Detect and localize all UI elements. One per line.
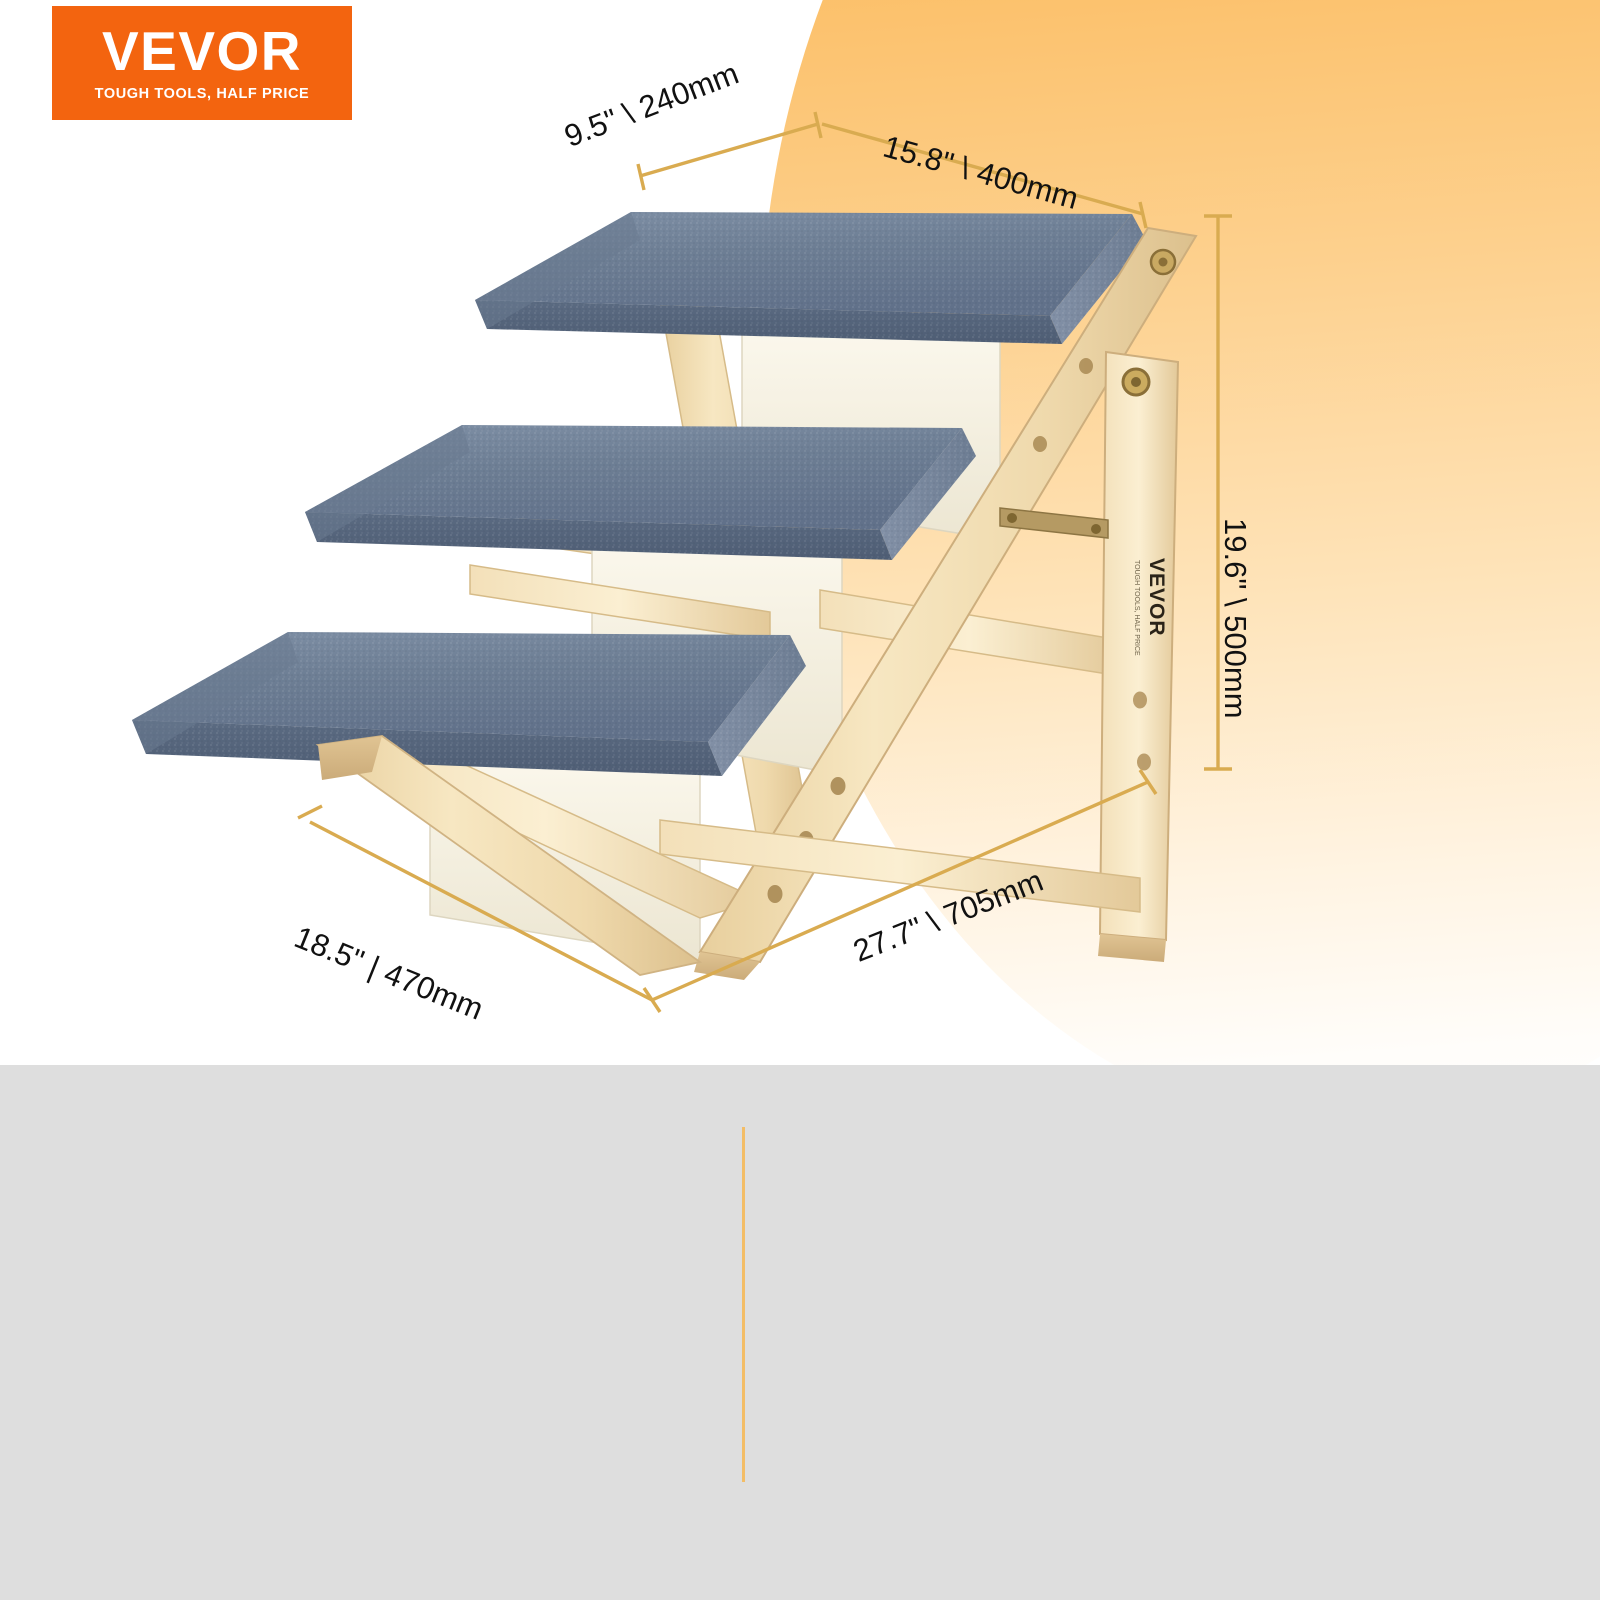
rear-leg: VEVOR TOUGH TOOLS, HALF PRICE — [1098, 352, 1178, 962]
spec-column-divider — [742, 1127, 745, 1482]
logo-wordmark: VEVOR — [102, 24, 302, 79]
svg-text:VEVOR: VEVOR — [1145, 558, 1168, 637]
product-image-area: VEVOR TOUGH TOOLS, HALF PRICE — [0, 0, 1600, 1065]
logo-tagline: TOUGH TOOLS, HALF PRICE — [95, 86, 310, 102]
product-illustration: VEVOR TOUGH TOOLS, HALF PRICE — [0, 0, 1600, 1065]
step-top — [475, 206, 1146, 344]
specification-panel — [0, 1065, 1600, 1600]
step-middle — [305, 425, 976, 560]
step-bottom — [132, 632, 806, 776]
dimension-label-height: 19.6" \ 500mm — [1217, 518, 1253, 719]
vevor-logo: VEVOR TOUGH TOOLS, HALF PRICE — [52, 6, 352, 120]
svg-text:TOUGH TOOLS, HALF PRICE: TOUGH TOOLS, HALF PRICE — [1133, 560, 1140, 656]
